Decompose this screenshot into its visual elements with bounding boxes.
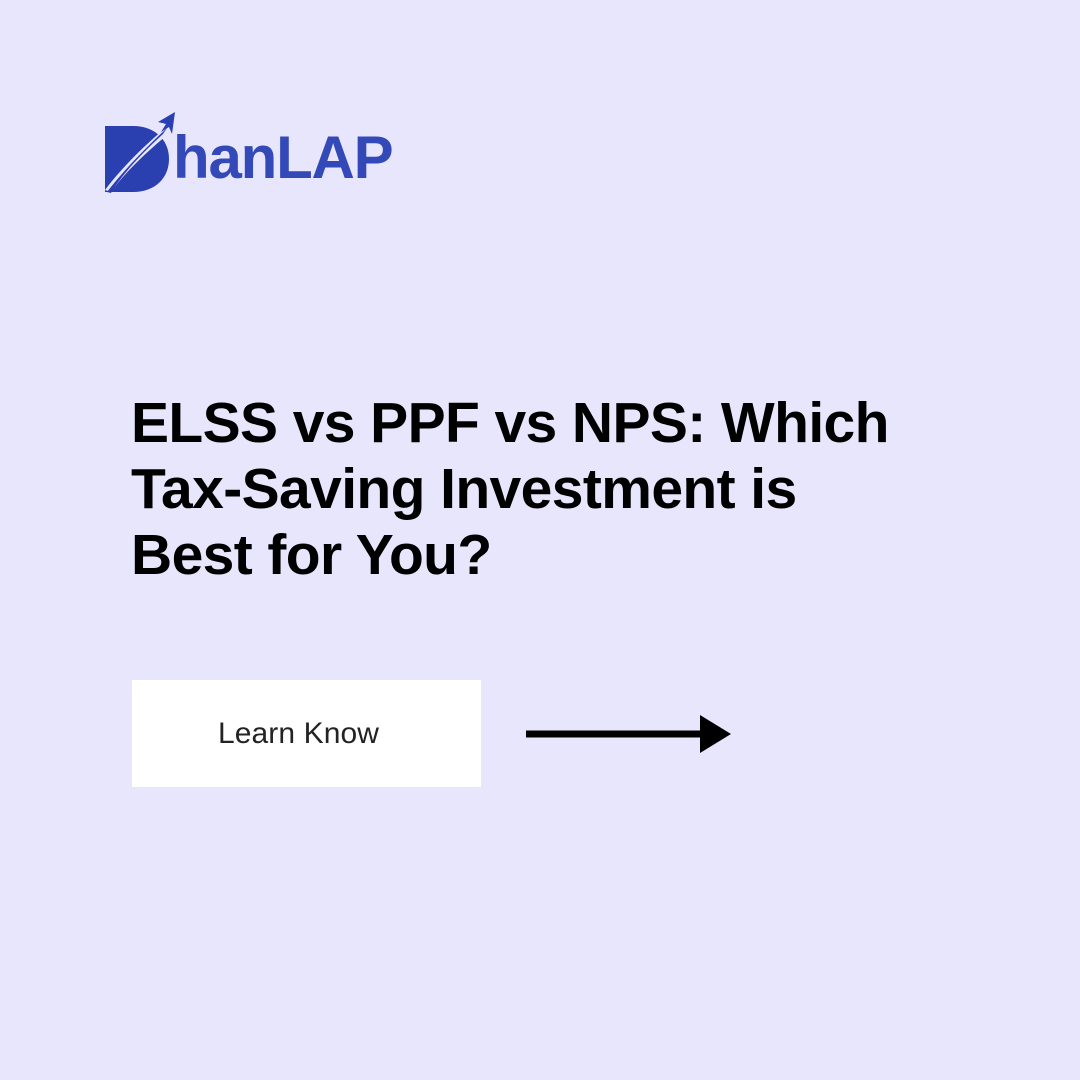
cta-row: Learn Know [132, 680, 731, 787]
headline-line-2: Tax-Saving Investment is [131, 456, 951, 522]
brand-wordmark: hanLAP [173, 128, 392, 188]
learn-more-button-label: Learn Know [218, 717, 379, 751]
poster-canvas: hanLAP ELSS vs PPF vs NPS: Which Tax-Sav… [0, 0, 1080, 1080]
dhanlap-d-arrow-logo-icon [103, 112, 177, 194]
headline-line-1: ELSS vs PPF vs NPS: Which [131, 390, 951, 456]
arrow-right-icon[interactable] [526, 712, 731, 756]
brand-logo[interactable]: hanLAP [103, 112, 392, 194]
learn-more-button[interactable]: Learn Know [132, 680, 481, 787]
headline-line-3: Best for You? [131, 522, 951, 588]
page-title: ELSS vs PPF vs NPS: Which Tax-Saving Inv… [131, 390, 951, 588]
